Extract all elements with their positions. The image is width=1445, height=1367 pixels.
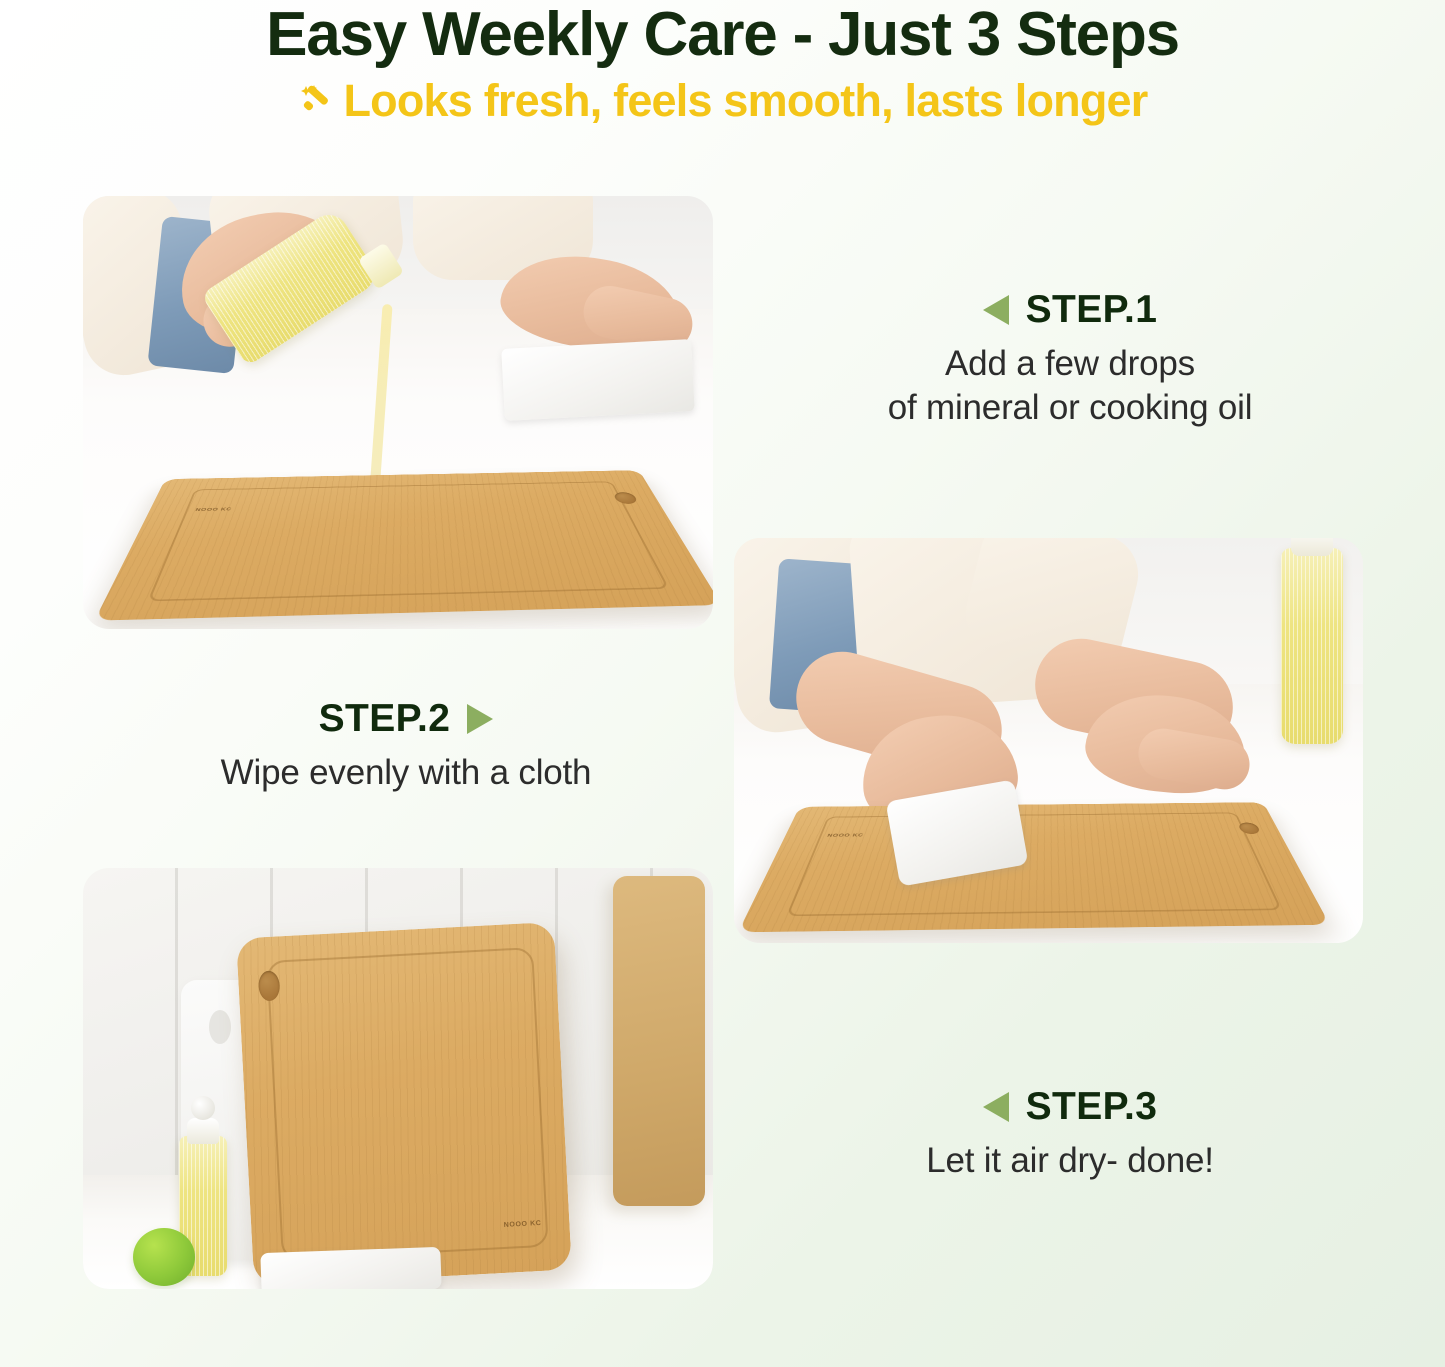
magic-wand-icon [297,82,337,122]
page-subtitle: Looks fresh, feels smooth, lasts longer [343,76,1147,126]
infographic-page: Easy Weekly Care - Just 3 Steps Looks fr… [0,0,1445,1367]
step-3-heading: STEP.3 [790,1085,1350,1129]
triangle-left-icon [983,295,1009,325]
triangle-left-icon [983,1092,1009,1122]
step-1-heading: STEP.1 [790,288,1350,332]
step-3-photo: NOOO KC [83,868,713,1289]
step-1-photo: NOOO KC [83,196,713,629]
header: Easy Weekly Care - Just 3 Steps Looks fr… [0,0,1445,125]
step-2-photo: NOOO KC [734,538,1363,943]
step-3-block: STEP.3 Let it air dry- done! [790,1085,1350,1183]
board-logo: NOOO KC [826,833,864,837]
step-3-description: Let it air dry- done! [790,1139,1350,1183]
page-title: Easy Weekly Care - Just 3 Steps [0,0,1445,68]
step-1-description: Add a few drops of mineral or cooking oi… [790,342,1350,430]
subtitle-row: Looks fresh, feels smooth, lasts longer [0,76,1445,126]
step-1-label: STEP.1 [1026,288,1158,332]
step-1-block: STEP.1 Add a few drops of mineral or coo… [790,288,1350,430]
step-2-block: STEP.2 Wipe evenly with a cloth [96,697,716,795]
step-2-heading: STEP.2 [96,697,716,741]
triangle-right-icon [467,704,493,734]
step-2-label: STEP.2 [319,697,451,741]
step-2-description: Wipe evenly with a cloth [96,751,716,795]
board-logo: NOOO KC [195,507,232,512]
step-3-label: STEP.3 [1026,1085,1158,1129]
